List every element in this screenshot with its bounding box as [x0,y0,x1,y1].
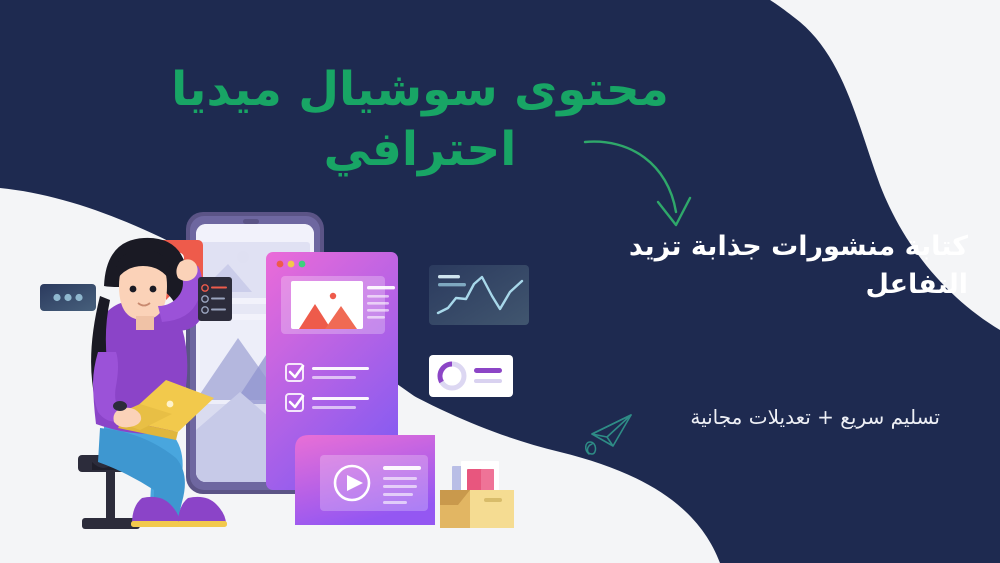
poster-canvas: محتوى سوشيال ميديا احترافي كتابة منشورات… [0,0,1000,563]
tagline-text: تسليم سريع + تعديلات مجانية [540,403,940,431]
page-title: محتوى سوشيال ميديا احترافي [140,60,700,180]
subtitle-text: كتابة منشورات جذابة تزيد التفاعل [548,228,968,305]
plane-trail [586,442,596,454]
